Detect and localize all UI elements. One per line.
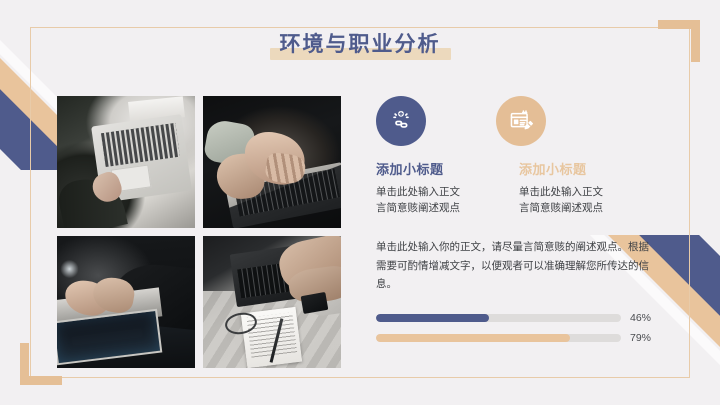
photo-grid: [57, 96, 341, 378]
bracket-arm-vertical: [20, 343, 29, 385]
feature-column-2: 添加小标题 单击此处输入正文 言简意赅阐述观点: [519, 162, 662, 216]
progress-track[interactable]: [376, 314, 621, 322]
feature-body: 单击此处输入正文 言简意赅阐述观点: [519, 184, 662, 217]
feature-column-1: 添加小标题 单击此处输入正文 言简意赅阐述观点: [376, 162, 519, 216]
progress-row: 46%: [376, 312, 662, 324]
feature-body: 单击此处输入正文 言简意赅阐述观点: [376, 184, 519, 217]
feature-headings-row: 添加小标题 单击此处输入正文 言简意赅阐述观点 添加小标题 单击此处输入正文 言…: [376, 162, 662, 216]
progress-fill: [376, 314, 489, 322]
page-title: 环境与职业分析: [270, 30, 451, 60]
frame-line-right: [689, 27, 690, 378]
feature-body-line: 单击此处输入正文: [519, 184, 662, 200]
feature-heading: 添加小标题: [376, 162, 519, 179]
photo-image-bed-laptop-notebook: [203, 236, 341, 368]
feature-body-line: 言简意赅阐述观点: [376, 200, 519, 216]
title-area: 环境与职业分析: [0, 30, 720, 60]
photo-image-laptop-glass-desk: [57, 236, 195, 368]
icon-row: [376, 96, 662, 146]
link-add-icon: [388, 108, 414, 134]
page-title-text: 环境与职业分析: [280, 33, 441, 56]
photo-item[interactable]: [57, 96, 195, 228]
body-paragraph: 单击此处输入你的正文，请尽量言简意赅的阐述观点。根据需要可酌情增减文字，以便观者…: [376, 238, 654, 293]
progress-bar-group: 46% 79%: [376, 312, 662, 344]
slide-canvas: 环境与职业分析: [0, 0, 720, 405]
feature-icon-circle-1[interactable]: [376, 96, 426, 146]
feature-heading: 添加小标题: [519, 162, 662, 179]
photo-item[interactable]: [203, 96, 341, 228]
feature-icon-circle-2[interactable]: [496, 96, 546, 146]
photo-item[interactable]: [57, 236, 195, 368]
photo-image-laptop-overhead: [57, 96, 195, 228]
frame-line-top: [30, 27, 690, 28]
progress-track[interactable]: [376, 334, 621, 342]
feature-body-line: 言简意赅阐述观点: [519, 200, 662, 216]
photo-image-hands-typing-dark: [203, 96, 341, 228]
progress-label: 79%: [630, 332, 662, 344]
form-edit-icon: [508, 108, 534, 134]
corner-bracket-bottom-left: [20, 343, 62, 385]
progress-fill: [376, 334, 570, 342]
progress-label: 46%: [630, 312, 662, 324]
frame-line-left: [30, 27, 31, 378]
progress-row: 79%: [376, 332, 662, 344]
photo-item[interactable]: [203, 236, 341, 368]
content-column: 添加小标题 单击此处输入正文 言简意赅阐述观点 添加小标题 单击此处输入正文 言…: [376, 96, 662, 352]
feature-body-line: 单击此处输入正文: [376, 184, 519, 200]
